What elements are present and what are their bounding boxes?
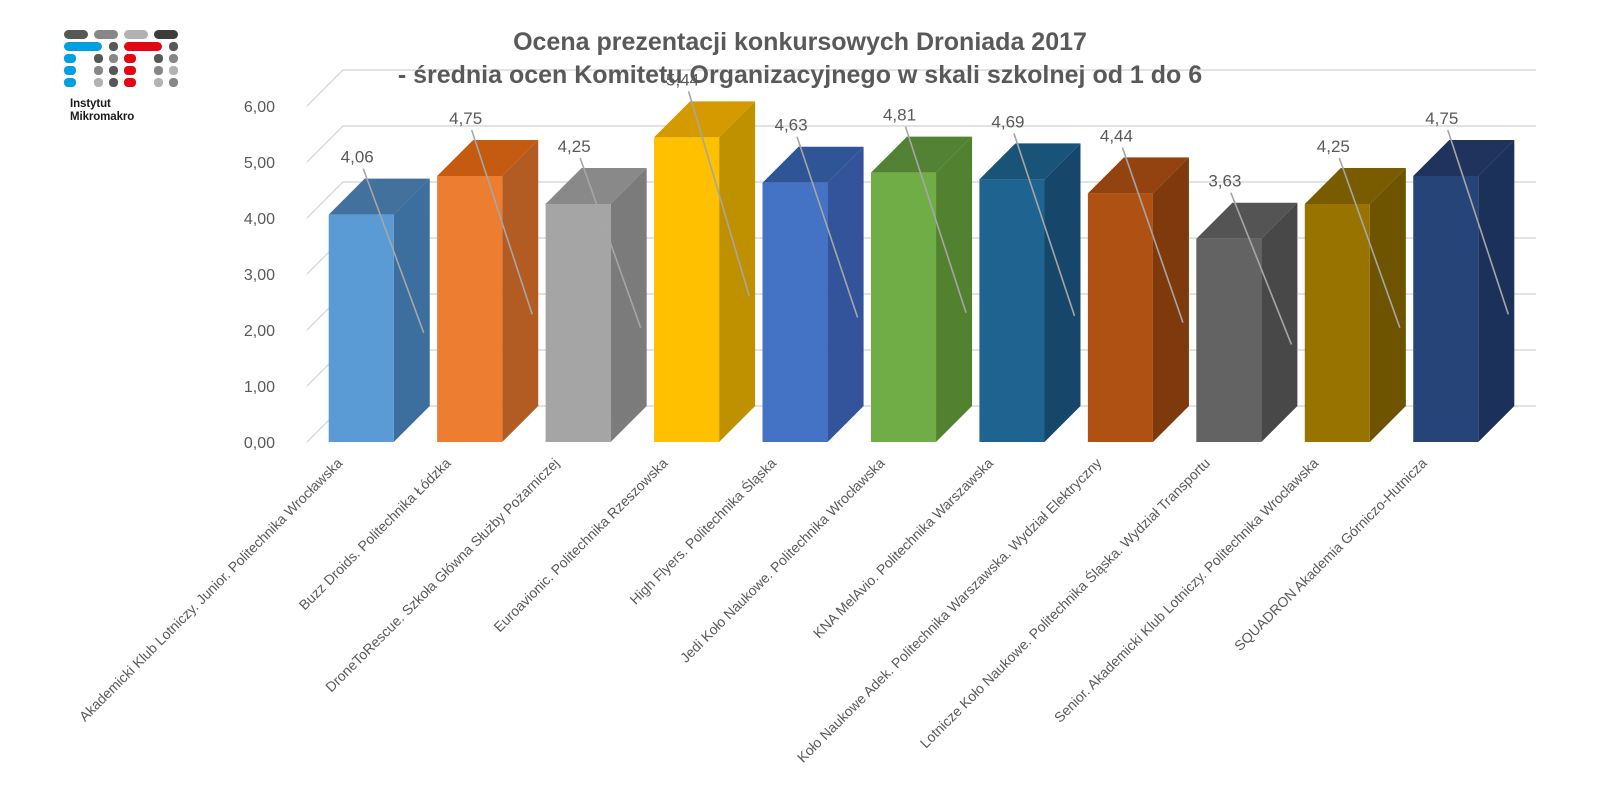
logo-line-2: Mikromakro <box>70 111 194 124</box>
bar-side-face <box>502 140 538 442</box>
bar[interactable] <box>654 101 755 442</box>
bar-front-face <box>437 176 502 442</box>
y-axis-labels: 0,001,002,003,004,005,006,00 <box>244 99 275 452</box>
bar-front-face <box>1196 239 1261 442</box>
bar-value-label: 4,63 <box>774 116 807 135</box>
bar-front-face <box>763 183 828 442</box>
bar[interactable] <box>1413 140 1514 442</box>
bar-front-face <box>1305 204 1370 442</box>
bar[interactable] <box>1088 157 1189 442</box>
logo-wordmark: Instytut Mikromakro <box>70 98 194 124</box>
chart-title-line-2: - średnia ocen Komitetu Organizacyjnego … <box>300 59 1300 92</box>
bar-value-label: 4,44 <box>1100 126 1133 145</box>
logo-line-1: Instytut <box>70 98 194 111</box>
y-axis-tick-label: 1,00 <box>244 379 275 396</box>
bar-value-label: 4,25 <box>558 137 591 156</box>
category-label: Euroavionic. Politechnika Rzeszowska <box>490 455 670 635</box>
y-axis-tick-label: 5,00 <box>244 155 275 172</box>
chart-title: Ocena prezentacji konkursowych Droniada … <box>300 26 1300 92</box>
bar-side-face <box>1044 143 1080 442</box>
chart-canvas: Instytut Mikromakro Ocena prezentacji ko… <box>0 0 1600 812</box>
y-axis-tick-label: 2,00 <box>244 323 275 340</box>
y-axis-tick-label: 4,00 <box>244 211 275 228</box>
bar-side-face <box>611 168 647 442</box>
bar-front-face <box>546 204 611 442</box>
bar-side-face <box>394 179 430 442</box>
bar-chart-plot: 0,001,002,003,004,005,006,004,064,754,25… <box>0 0 1600 812</box>
bar[interactable] <box>979 143 1080 442</box>
y-axis-tick-label: 3,00 <box>244 267 275 284</box>
bar-value-label: 4,75 <box>1425 109 1458 128</box>
bar[interactable] <box>546 168 647 442</box>
bar-value-label: 4,69 <box>991 112 1024 131</box>
category-label: KNA MelAvio. Politechnika Warszawska <box>810 455 996 641</box>
bar-front-face <box>329 215 394 442</box>
bar-value-label: 4,25 <box>1317 137 1350 156</box>
y-axis-tick-label: 0,00 <box>244 435 275 452</box>
bar-front-face <box>979 179 1044 442</box>
bar-value-label: 4,81 <box>883 106 916 125</box>
bar-front-face <box>1088 193 1153 442</box>
bar-side-face <box>719 101 755 442</box>
bar-front-face <box>654 137 719 442</box>
bar-front-face <box>871 173 936 442</box>
bar-front-face <box>1413 176 1478 442</box>
category-label: DroneToRescue. Szkoła Główna Służby Poża… <box>322 455 562 695</box>
category-label: Akademicki Klub Lotniczy. Junior. Polite… <box>76 455 346 725</box>
bar[interactable] <box>871 137 972 442</box>
bar[interactable] <box>1305 168 1406 442</box>
bar[interactable] <box>437 140 538 442</box>
bar-value-label: 4,06 <box>341 148 374 167</box>
bar-side-face <box>1370 168 1406 442</box>
category-labels: Akademicki Klub Lotniczy. Junior. Polite… <box>76 454 1430 766</box>
y-axis-tick-label: 6,00 <box>244 99 275 116</box>
category-label: SQUADRON Akademia Górniczo-Hutnicza <box>1231 455 1430 654</box>
logo: Instytut Mikromakro <box>64 30 194 124</box>
bar[interactable] <box>763 147 864 442</box>
bar-side-face <box>1153 157 1189 442</box>
bar-value-label: 3,63 <box>1208 172 1241 191</box>
bar-side-face <box>1478 140 1514 442</box>
bar-value-label: 4,75 <box>449 109 482 128</box>
bar-side-face <box>828 147 864 442</box>
chart-title-line-1: Ocena prezentacji konkursowych Droniada … <box>300 26 1300 59</box>
bar-side-face <box>936 137 972 442</box>
category-label: Senior. Akademicki Klub Lotniczy. Polite… <box>1051 455 1322 726</box>
bar-side-face <box>1261 203 1297 442</box>
logo-mark-icon <box>64 30 184 92</box>
category-label: Jedi Koło Naukowe. Politechnika Wrocławs… <box>677 455 888 666</box>
